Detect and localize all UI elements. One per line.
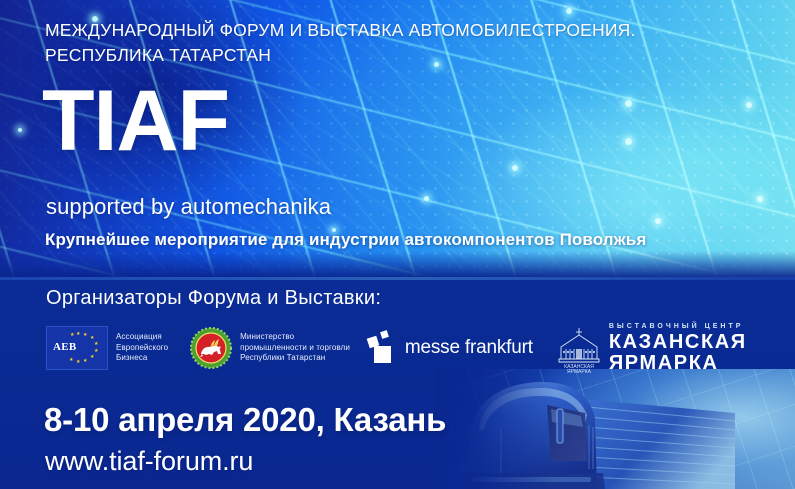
- svg-text:ЯРМАРКА: ЯРМАРКА: [567, 369, 592, 373]
- messe-frankfurt-label: messe frankfurt: [405, 337, 533, 359]
- organizer-logo-messe-frankfurt: messe frankfurt: [368, 331, 533, 365]
- tiaf-event-banner: МЕЖДУНАРОДНЫЙ ФОРУМ И ВЫСТАВКА АВТОМОБИЛ…: [0, 0, 795, 489]
- event-website-url[interactable]: www.tiaf-forum.ru: [45, 446, 253, 477]
- messe-frankfurt-icon: [368, 331, 398, 365]
- supported-by-text: supported by automechanika: [46, 194, 331, 220]
- event-subtitle: МЕЖДУНАРОДНЫЙ ФОРУМ И ВЫСТАВКА АВТОМОБИЛ…: [45, 18, 765, 68]
- organizer-logo-kazan-fair: КАЗАНСКАЯ ЯРМАРКА ВЫСТАВОЧНЫЙ ЦЕНТР КАЗА…: [557, 323, 747, 374]
- kazan-fair-name-line-1: КАЗАНСКАЯ: [609, 332, 747, 353]
- tatarstan-emblem-icon: [190, 327, 232, 369]
- event-date-location: 8-10 апреля 2020, Казань: [44, 401, 446, 439]
- event-tagline: Крупнейшее мероприятие для индустрии авт…: [45, 230, 646, 250]
- organizer-logo-ministry-tatarstan: Министерство промышленности и торговли Р…: [190, 327, 350, 369]
- top-bottom-fade: [0, 251, 795, 277]
- event-subtitle-line-2: РЕСПУБЛИКА ТАТАРСТАН: [45, 43, 765, 68]
- kazan-fair-name-line-2: ЯРМАРКА: [609, 353, 747, 374]
- ministry-label-line-3: Республики Татарстан: [240, 353, 350, 364]
- organizers-logo-row: AEB ★ ★ ★ ★ ★ ★ ★ ★ ★ ★ Ассоциация Европ…: [46, 318, 747, 378]
- aeb-icon: AEB ★ ★ ★ ★ ★ ★ ★ ★ ★ ★: [46, 326, 108, 370]
- panel-top-edge: [0, 277, 795, 280]
- aeb-label-line-1: Ассоциация: [116, 332, 168, 343]
- kazan-fair-label: ВЫСТАВОЧНЫЙ ЦЕНТР КАЗАНСКАЯ ЯРМАРКА: [609, 323, 747, 374]
- aeb-label-line-2: Европейского: [116, 343, 168, 354]
- kazan-fair-building-icon: КАЗАНСКАЯ ЯРМАРКА: [557, 323, 601, 373]
- organizer-logo-aeb: AEB ★ ★ ★ ★ ★ ★ ★ ★ ★ ★ Ассоциация Европ…: [46, 326, 168, 370]
- aeb-label-line-3: Бизнеса: [116, 353, 168, 364]
- aeb-label: Ассоциация Европейского Бизнеса: [116, 332, 168, 364]
- aeb-mark-text: AEB: [53, 341, 77, 353]
- truck-photo: [435, 369, 795, 489]
- ministry-label-line-2: промышленности и торговли: [240, 343, 350, 354]
- event-subtitle-line-1: МЕЖДУНАРОДНЫЙ ФОРУМ И ВЫСТАВКА АВТОМОБИЛ…: [45, 18, 765, 43]
- ministry-label-line-1: Министерство: [240, 332, 350, 343]
- kazan-fair-subtitle: ВЫСТАВОЧНЫЙ ЦЕНТР: [609, 323, 747, 330]
- organizers-heading: Организаторы Форума и Выставки:: [46, 287, 381, 310]
- ministry-label: Министерство промышленности и торговли Р…: [240, 332, 350, 364]
- tiaf-wordmark: TIAF: [42, 78, 229, 164]
